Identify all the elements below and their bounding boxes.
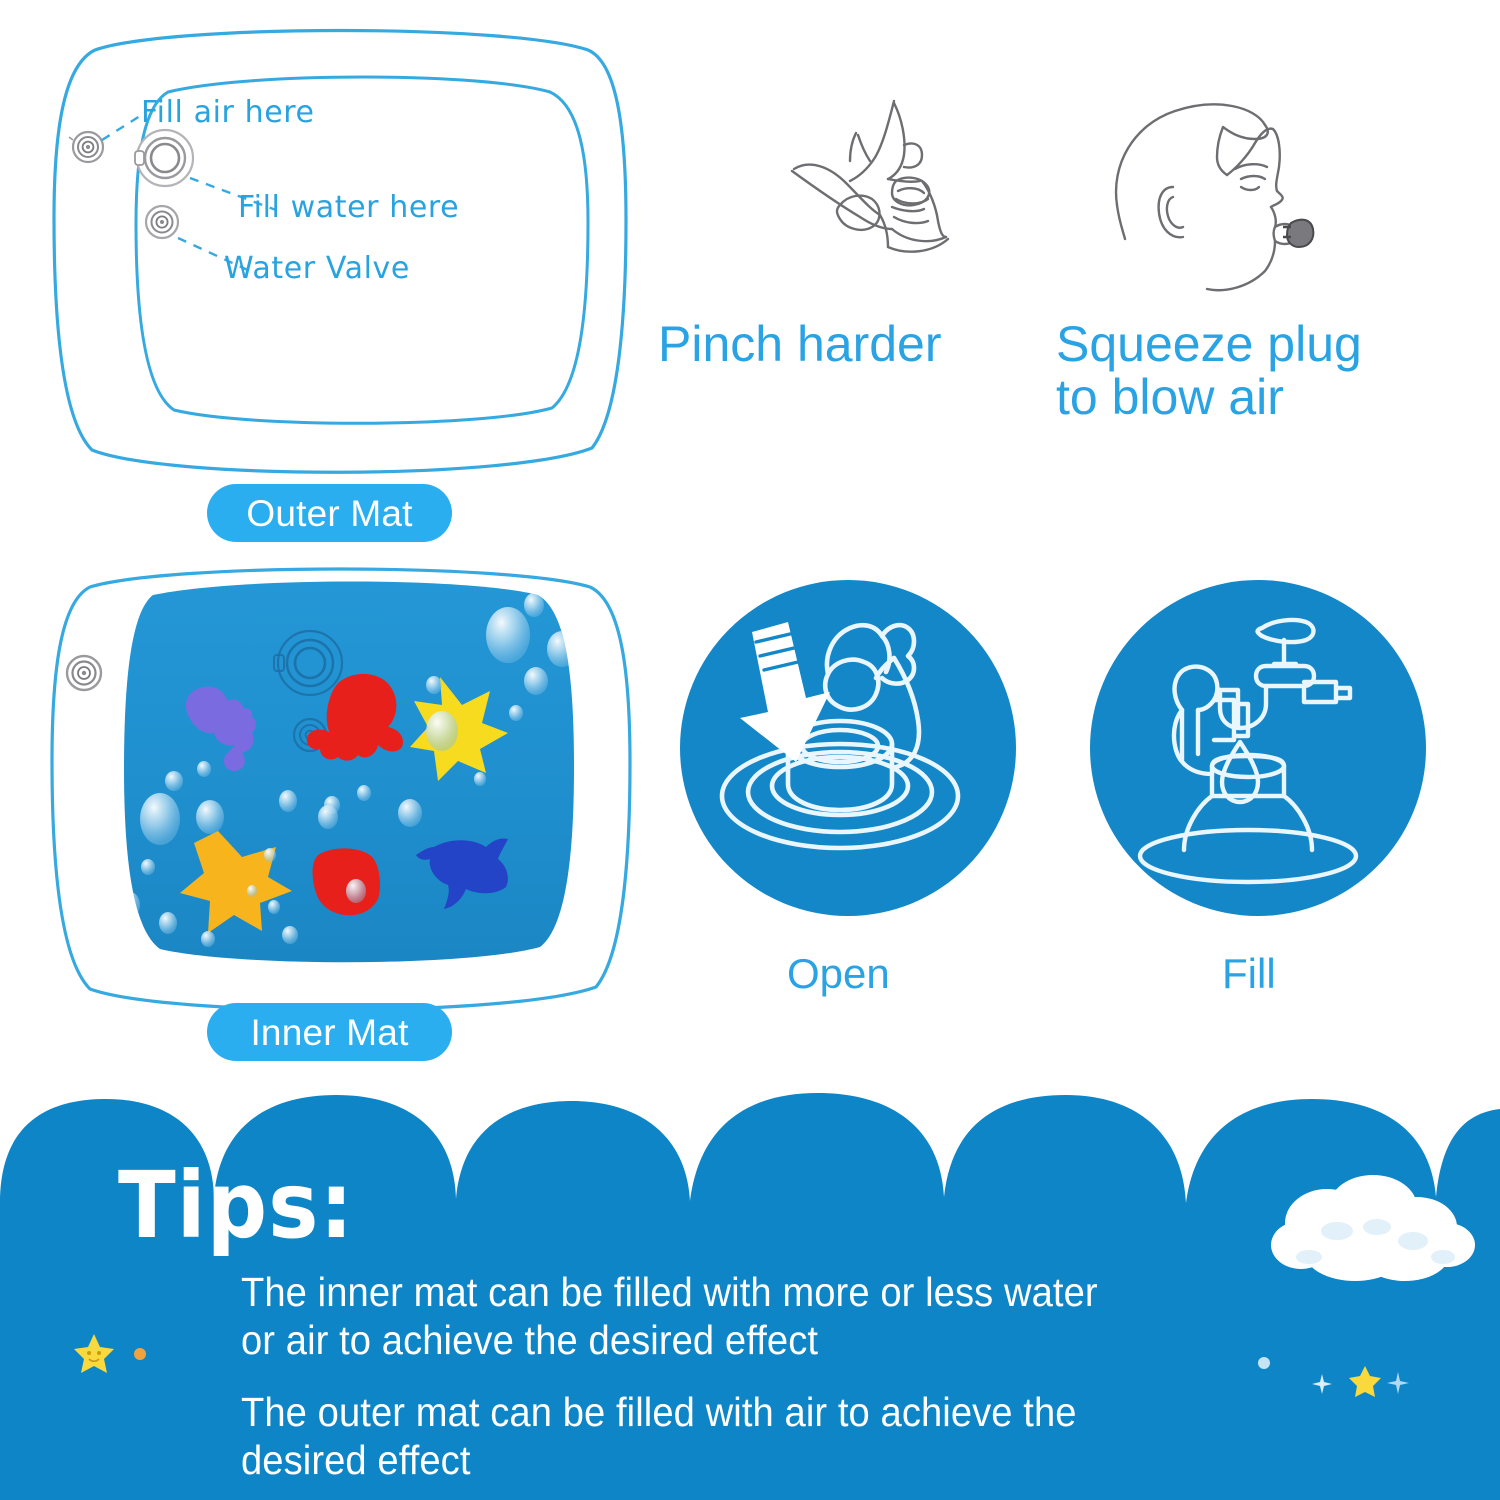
- water-valve-icon: [146, 206, 178, 238]
- tip-item-outer-mat: The outer mat can be filled with air to …: [241, 1388, 1450, 1485]
- badge-outer-mat: Outer Mat: [207, 484, 452, 542]
- callout-fill-water-here: Fill water here: [238, 190, 459, 225]
- star-icon: [72, 1331, 116, 1375]
- step-open-icon: [678, 578, 1018, 918]
- callout-water-valve: Water Valve: [224, 251, 410, 286]
- water-fill-port-icon: [135, 130, 193, 186]
- sparkle-icon: [133, 1347, 147, 1361]
- label-step-open: Open: [787, 950, 890, 998]
- leader-line-fill-air: [102, 116, 140, 140]
- badge-inner-mat: Inner Mat: [207, 1003, 452, 1061]
- label-squeeze-plug: Squeeze plug to blow air: [1056, 318, 1362, 424]
- hand-pinching-valve-sketch: [770, 95, 1000, 310]
- inner-air-valve-icon: [67, 656, 101, 690]
- head-blowing-plug-sketch: [1095, 95, 1425, 310]
- tip-item-inner-mat: The inner mat can be filled with more or…: [241, 1268, 1450, 1365]
- label-pinch-harder: Pinch harder: [658, 318, 942, 371]
- step-fill-icon: [1088, 578, 1428, 918]
- label-step-fill: Fill: [1222, 950, 1276, 998]
- air-valve-icon: [69, 132, 107, 162]
- callout-fill-air-here: Fill air here: [141, 95, 315, 130]
- inner-mat-diagram: [38, 555, 648, 1025]
- instruction-sheet: Fill air here Fill water here Water Valv…: [0, 0, 1500, 1500]
- tips-title: Tips:: [118, 1160, 354, 1252]
